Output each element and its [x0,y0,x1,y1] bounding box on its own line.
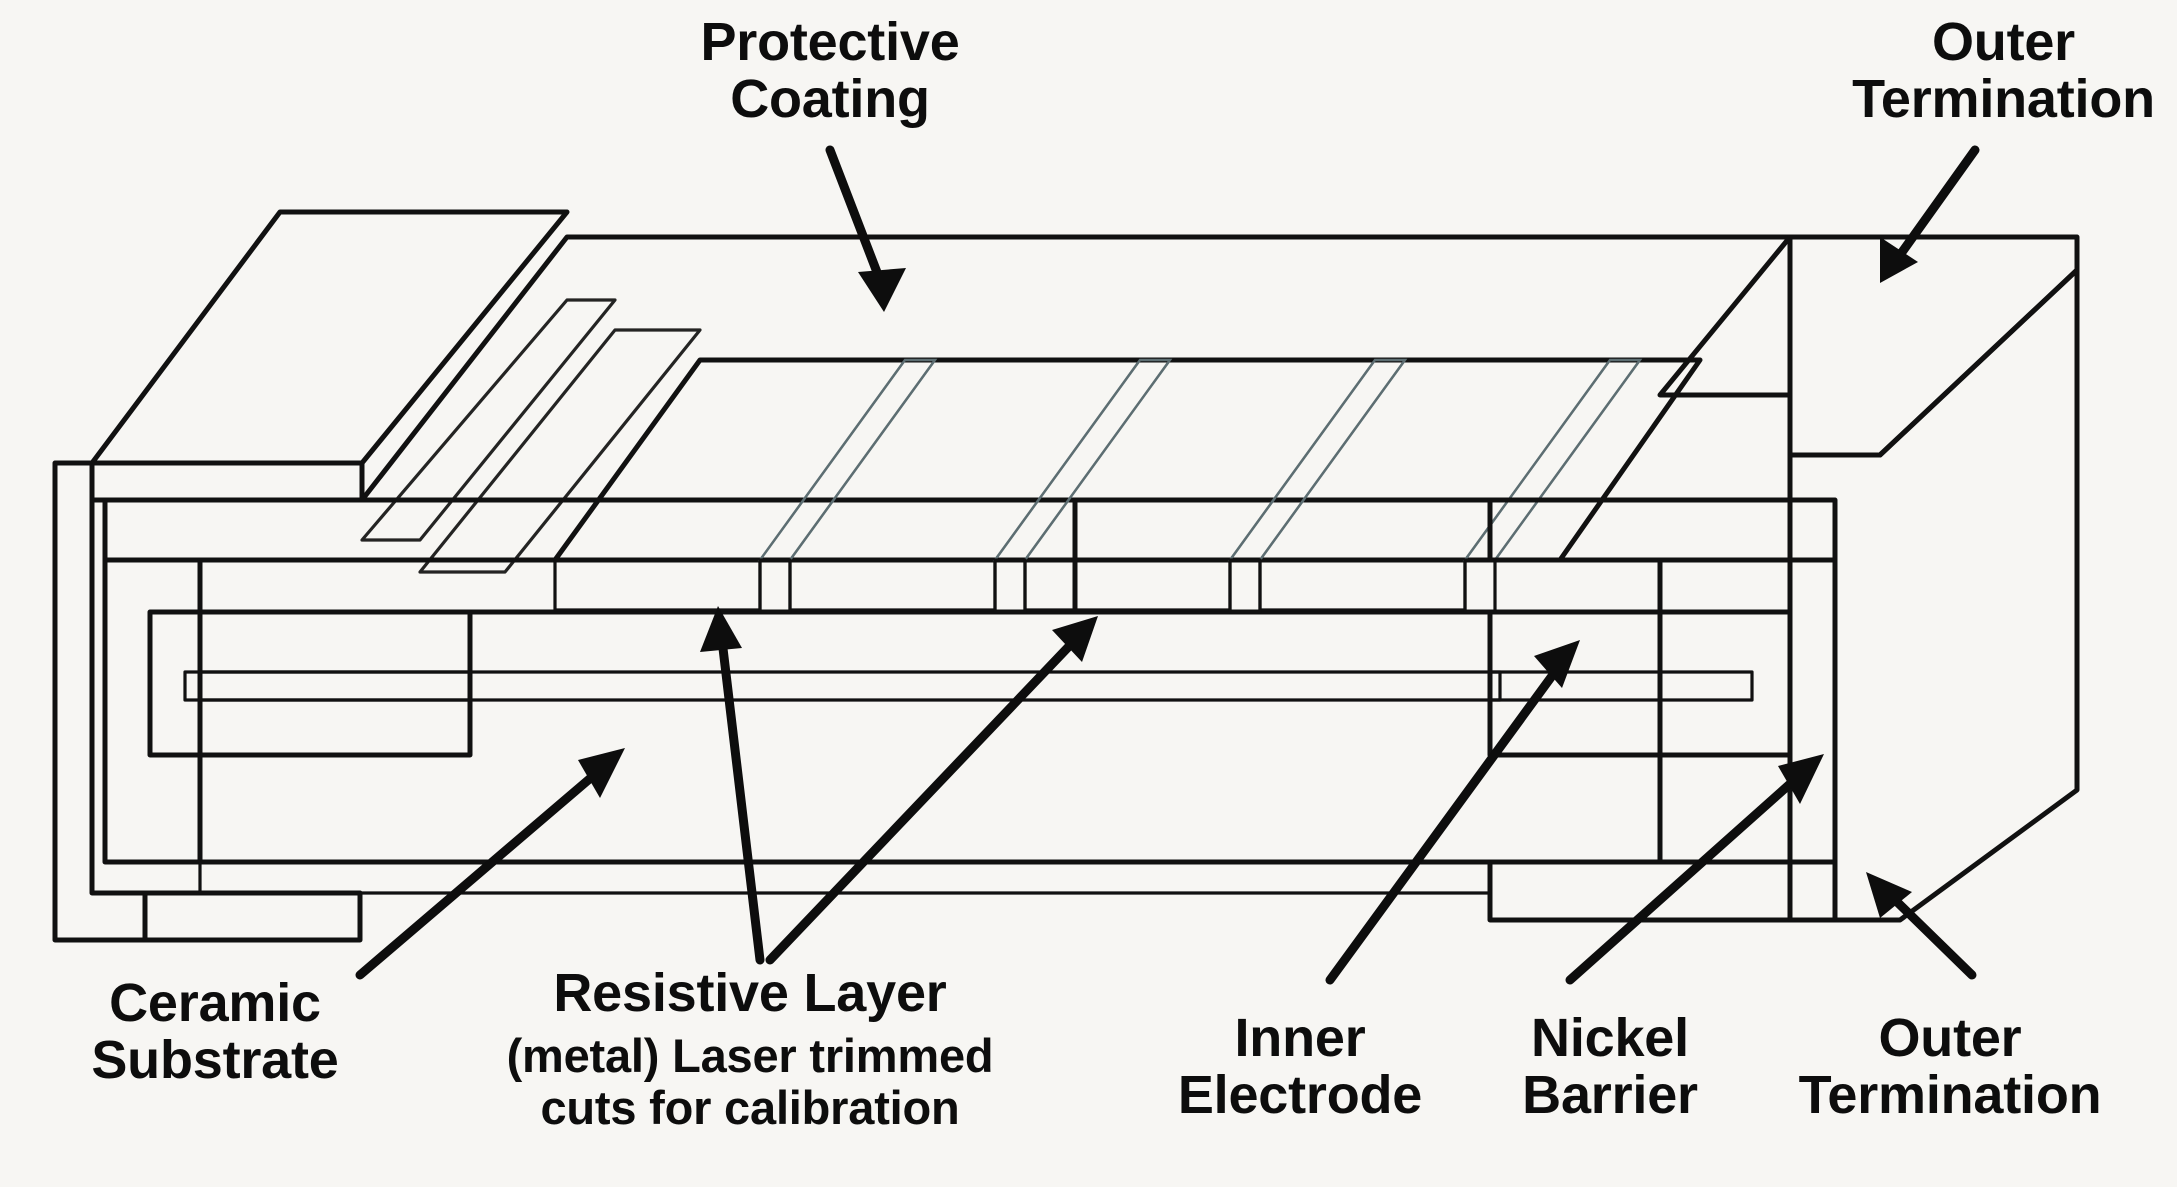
diagram-canvas: Protective Coating Outer Termination Cer… [0,0,2177,1187]
termination-left-bottom-ledge [145,893,360,940]
label-nickel-barrier: Nickel Barrier [1460,1010,1760,1124]
resistive-pad-top-1 [555,360,905,560]
leader-resistive-b [770,640,1075,960]
resistive-pad-front-1 [555,560,760,610]
leader-ceramic-substrate [360,770,600,975]
trim-cut-1 [760,360,935,560]
trim-cut-3 [1230,360,1405,560]
trim-cut-front-2 [995,560,1025,612]
inner-electrode-copper-strip-right [1490,672,1752,700]
laser-trim-cuts [760,360,1640,612]
trim-cut-front-1 [760,560,790,612]
leader-resistive-a [722,640,760,960]
resistive-layer-group [555,360,1700,610]
resistive-pad-top-2 [790,360,1140,560]
label-outer-termination-top: Outer Termination [1830,14,2177,128]
trim-cut-front-4 [1465,560,1495,612]
teal-transition-layer-right [1490,500,1835,560]
termination-left-front-wall [55,463,145,940]
leader-nickel-barrier [1570,775,1800,980]
resistive-pad-front-4 [1260,560,1465,610]
protective-coating-top [362,237,1790,500]
left-end-layer-stack [105,500,1075,862]
leader-protective-coating [830,150,880,280]
trim-cut-front-3 [1230,560,1260,612]
inner-electrode-copper-strip-left [185,672,470,700]
resistive-band-outline [555,360,1700,560]
termination-left-top-edge [92,463,362,500]
resistive-film-section-strip [200,672,1500,700]
termination-right-top-face [1790,237,2077,455]
termination-left-top-face [92,212,567,463]
leader-arrows [360,150,1975,980]
label-inner-electrode: Inner Electrode [1140,1010,1460,1124]
outer-termination-left [55,212,567,940]
termination-right-inner-wall [1790,500,1835,920]
label-ceramic-substrate: Ceramic Substrate [30,975,400,1089]
label-resistive-layer-detail: (metal) Laser trimmed cuts for calibrati… [455,1030,1045,1133]
label-protective-coating: Protective Coating [630,14,1030,128]
label-outer-termination-bottom: Outer Termination [1780,1010,2120,1124]
resistive-pad-front-3 [1025,560,1230,610]
right-end-layer-stack [1490,500,1835,862]
leader-inner-electrode [1330,665,1560,980]
nickel-barrier-left-run [200,560,1075,612]
termination-right-bottom-ledge [1490,862,1835,920]
label-resistive-layer: Resistive Layer [480,965,1020,1022]
trim-cut-2 [995,360,1170,560]
resistive-pad-top-5 [1495,360,1700,560]
inner-electrode-right [1490,612,1790,755]
resistive-pad-front-2 [790,560,995,610]
leader-outer-termination-bottom [1890,895,1972,975]
resistive-pad-top-4 [1260,360,1610,560]
